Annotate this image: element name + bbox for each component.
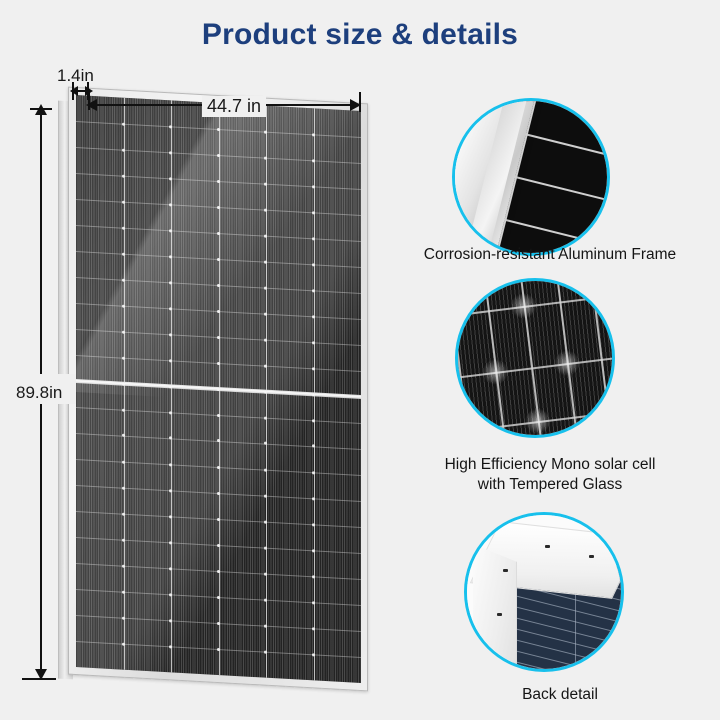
back-photo-left-edge bbox=[473, 544, 517, 672]
page-title: Product size & details bbox=[0, 18, 720, 52]
back-photo-clip-4 bbox=[497, 613, 502, 616]
thickness-dimension-label: 1.4in bbox=[57, 66, 94, 86]
height-arrow-up-icon bbox=[35, 104, 47, 115]
width-dimension-label: 44.7 in bbox=[202, 96, 266, 117]
product-details-infographic: Product size & details 1.4in 44.7 in 8 bbox=[0, 0, 720, 720]
back-photo-clip-1 bbox=[545, 545, 550, 548]
detail-circle-back-detail bbox=[464, 512, 624, 672]
height-dimension-label: 89.8in bbox=[16, 383, 62, 403]
solar-cell-macro-photo-icon bbox=[455, 278, 615, 438]
width-arrow-left-icon bbox=[86, 99, 97, 111]
detail-caption-back-detail: Back detail bbox=[460, 685, 660, 705]
detail-caption-aluminum-frame: Corrosion-resistant Aluminum Frame bbox=[390, 245, 710, 265]
panel-aluminum-frame bbox=[68, 87, 368, 692]
width-arrow-right-icon bbox=[350, 99, 361, 111]
back-photo-clip-2 bbox=[589, 555, 594, 558]
detail-circle-mono-solar-cell bbox=[455, 278, 615, 438]
panel-cell-laminate bbox=[76, 95, 361, 683]
thickness-arrow-left-icon bbox=[70, 86, 78, 96]
solar-panel-illustration bbox=[58, 95, 368, 685]
panel-back-photo-icon bbox=[467, 515, 621, 669]
back-photo-clip-3 bbox=[503, 569, 508, 572]
detail-circle-aluminum-frame bbox=[452, 98, 610, 256]
height-arrow-down-icon bbox=[35, 669, 47, 680]
solder-junction-dots bbox=[76, 95, 361, 683]
detail-caption-mono-solar-cell: High Efficiency Mono solar cell with Tem… bbox=[400, 455, 700, 495]
frame-corner-photo-icon bbox=[455, 101, 607, 253]
